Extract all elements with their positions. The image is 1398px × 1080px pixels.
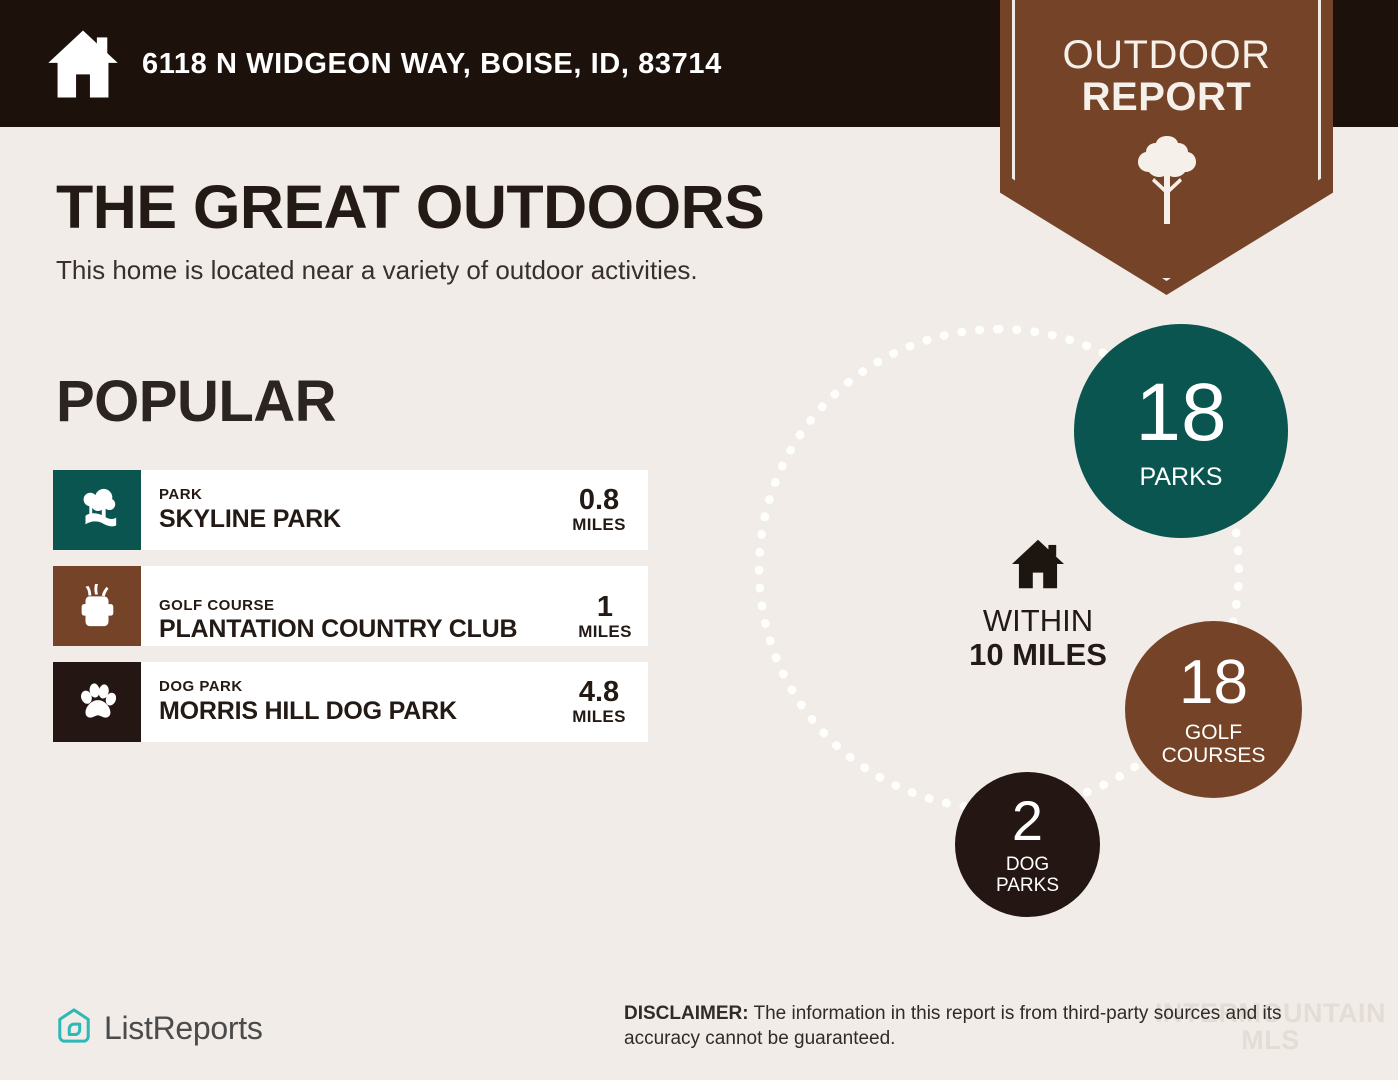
list-item-category: DOG PARK xyxy=(159,678,457,697)
popular-list: PARK SKYLINE PARK 0.8 MILES GOLF COURSE … xyxy=(53,470,648,758)
bubble-dogs-label: DOG PARKS xyxy=(996,855,1059,896)
disclaimer: DISCLAIMER: The information in this repo… xyxy=(624,1001,1314,1052)
bubble-dog-parks: 2 DOG PARKS xyxy=(955,772,1100,917)
bubble-golf-label: GOLF COURSES xyxy=(1162,722,1266,767)
list-item-category: PARK xyxy=(159,486,341,505)
disclaimer-label: DISCLAIMER: xyxy=(624,1003,749,1024)
page-subtitle: This home is located near a variety of o… xyxy=(56,255,698,286)
listreports-house-icon xyxy=(56,1007,92,1050)
bubble-parks-count: 18 xyxy=(1135,372,1226,454)
distance-unit: MILES xyxy=(572,622,638,642)
list-item-distance: 1 MILES xyxy=(572,593,638,646)
bubble-parks-label: PARKS xyxy=(1140,464,1223,491)
list-item-distance: 4.8 MILES xyxy=(566,678,632,727)
bubble-golf-courses: 18 GOLF COURSES xyxy=(1125,621,1302,798)
bubble-dogs-label-line2: PARKS xyxy=(996,875,1059,896)
listreports-logo[interactable]: ListReports xyxy=(56,1007,263,1050)
list-item-body: GOLF COURSE PLANTATION COUNTRY CLUB 1 MI… xyxy=(141,566,648,646)
list-item-text: PARK SKYLINE PARK xyxy=(159,486,341,534)
list-item-name: MORRIS HILL DOG PARK xyxy=(159,697,457,726)
bubble-parks: 18 PARKS xyxy=(1074,324,1288,538)
bubble-dogs-count: 2 xyxy=(1012,793,1043,849)
tree-icon xyxy=(1000,134,1333,231)
list-item-body: DOG PARK MORRIS HILL DOG PARK 4.8 MILES xyxy=(141,662,648,742)
distance-value: 0.8 xyxy=(566,486,632,515)
popular-heading: POPULAR xyxy=(56,368,336,435)
outdoor-report-badge: OUTDOOR REPORT xyxy=(1000,0,1333,295)
list-item-body: PARK SKYLINE PARK 0.8 MILES xyxy=(141,470,648,550)
within-label-line2: 10 MILES xyxy=(938,638,1138,672)
bubble-golf-label-line2: COURSES xyxy=(1162,744,1266,767)
home-icon xyxy=(938,538,1138,595)
distance-value: 4.8 xyxy=(566,678,632,707)
listreports-wordmark: ListReports xyxy=(104,1010,263,1047)
list-item-name: PLANTATION COUNTRY CLUB xyxy=(159,615,517,644)
property-address: 6118 N WIDGEON WAY, BOISE, ID, 83714 xyxy=(142,48,722,81)
list-item[interactable]: DOG PARK MORRIS HILL DOG PARK 4.8 MILES xyxy=(53,662,648,742)
badge-content: OUTDOOR REPORT xyxy=(1000,0,1333,295)
golf-bag-icon xyxy=(53,566,141,646)
badge-line-1: OUTDOOR xyxy=(1000,34,1333,76)
list-item-text: DOG PARK MORRIS HILL DOG PARK xyxy=(159,678,457,726)
badge-line-2: REPORT xyxy=(1000,76,1333,118)
header-address-group: 6118 N WIDGEON WAY, BOISE, ID, 83714 xyxy=(46,28,722,100)
distance-value: 1 xyxy=(572,593,638,622)
park-trees-icon xyxy=(53,470,141,550)
list-item-distance: 0.8 MILES xyxy=(566,486,632,535)
bubble-golf-label-line1: GOLF xyxy=(1185,721,1242,744)
amenities-radial-chart: WITHIN 10 MILES 18 PARKS 18 GOLF COURSES… xyxy=(700,300,1380,940)
list-item[interactable]: PARK SKYLINE PARK 0.8 MILES xyxy=(53,470,648,550)
bubble-golf-count: 18 xyxy=(1179,652,1248,714)
list-item[interactable]: GOLF COURSE PLANTATION COUNTRY CLUB 1 MI… xyxy=(53,566,648,646)
paw-print-icon xyxy=(53,662,141,742)
home-icon xyxy=(46,28,120,100)
distance-unit: MILES xyxy=(566,515,632,535)
within-radius-label: WITHIN 10 MILES xyxy=(938,538,1138,672)
list-item-category: GOLF COURSE xyxy=(159,597,517,616)
list-item-text: GOLF COURSE PLANTATION COUNTRY CLUB xyxy=(159,597,517,647)
distance-unit: MILES xyxy=(566,707,632,727)
list-item-name: SKYLINE PARK xyxy=(159,505,341,534)
page-title: THE GREAT OUTDOORS xyxy=(56,172,764,242)
bubble-dogs-label-line1: DOG xyxy=(1006,854,1049,875)
within-label-line1: WITHIN xyxy=(938,605,1138,638)
